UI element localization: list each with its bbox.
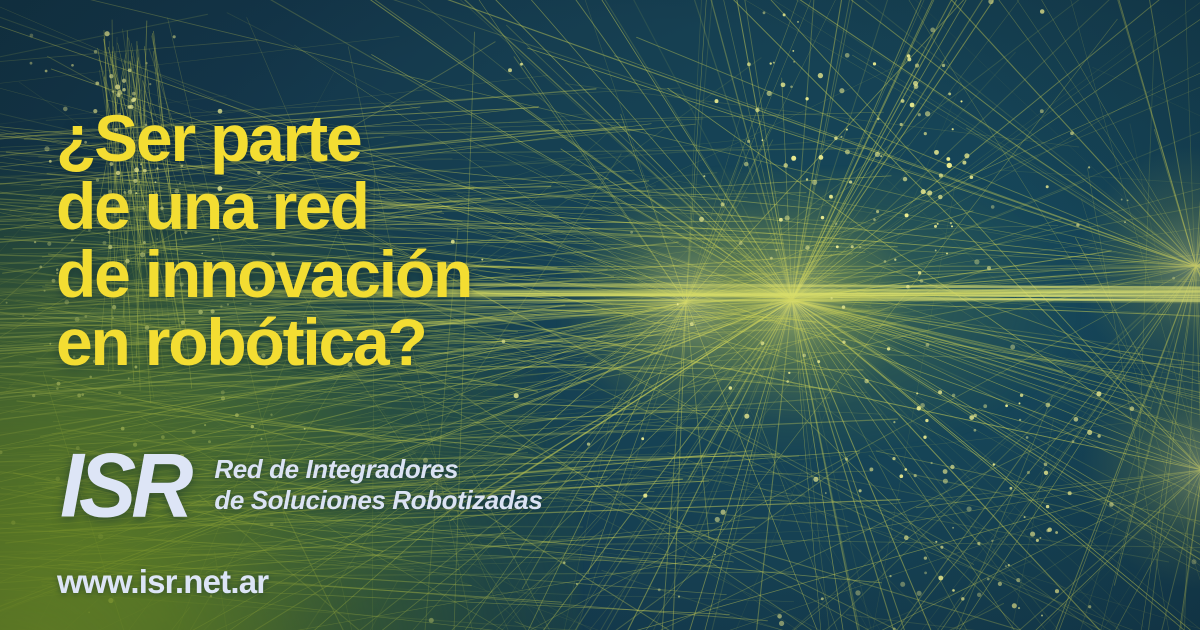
logo-tagline-line-1: Red de Integradores [214,454,542,485]
logo-tagline: Red de Integradores de Soluciones Roboti… [214,454,542,516]
logo-tagline-line-2: de Soluciones Robotizadas [214,485,542,516]
headline: ¿Ser parte de una red de innovación en r… [56,104,471,376]
logo-lockup: ISR Red de Integradores de Soluciones Ro… [60,440,542,526]
headline-line-4: en robótica? [56,308,471,376]
promo-banner: ¿Ser parte de una red de innovación en r… [0,0,1200,630]
isr-logo-wordmark: ISR [60,440,188,531]
headline-line-3: de innovación [56,240,471,308]
headline-line-1: ¿Ser parte [56,104,471,172]
website-url[interactable]: www.isr.net.ar [57,563,268,601]
headline-line-2: de una red [56,172,471,240]
